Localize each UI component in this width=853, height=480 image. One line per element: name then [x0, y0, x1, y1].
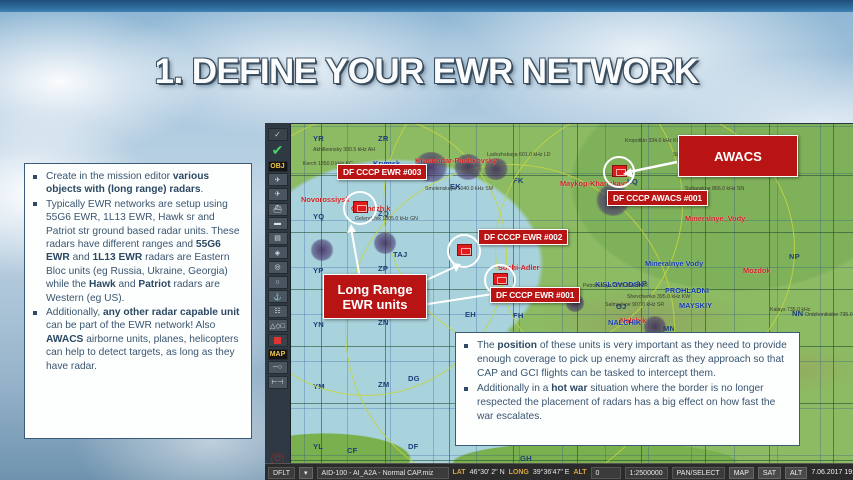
- slide-root: 1. DEFINE YOUR EWR NETWORK Create in the…: [0, 0, 853, 480]
- callout-ewr-003[interactable]: DF CCCP EWR #003: [337, 164, 427, 180]
- callout-line-2: EWR units: [343, 297, 408, 312]
- bullet-text: Additionally in a: [477, 383, 551, 394]
- right-info-panel: The position of these units is very impo…: [455, 332, 800, 446]
- slide-title-bar: 1. DEFINE YOUR EWR NETWORK: [0, 40, 853, 104]
- right-bullet-list: The position of these units is very impo…: [462, 339, 791, 424]
- slide-top-band: [0, 0, 853, 12]
- bullet-text: The: [477, 340, 497, 351]
- lat-value: 46°30' 2" N: [470, 469, 505, 476]
- mission-clock: 7.06.2017 19:40:29: [811, 469, 853, 476]
- map-scale-field[interactable]: 1:2500000: [625, 467, 668, 479]
- long-label: LONG: [509, 469, 529, 476]
- alt-view-button[interactable]: ALT: [785, 467, 807, 479]
- callout-line-1: Long Range: [337, 282, 412, 297]
- sat-view-button[interactable]: SAT: [758, 467, 781, 479]
- long-value: 39°36'47" E: [533, 469, 570, 476]
- bullet-item: Typically EWR networks are setup using 5…: [31, 198, 243, 305]
- alt-label: ALT: [573, 469, 586, 476]
- callout-ewr-002[interactable]: DF CCCP EWR #002: [478, 229, 568, 245]
- bullet-text: Create in the mission editor: [46, 171, 173, 182]
- callout-ewr-001[interactable]: DF CCCP EWR #001: [490, 287, 580, 303]
- bullet-text: .: [201, 184, 204, 195]
- dflt-field[interactable]: DFLT: [268, 467, 295, 479]
- mission-editor-status-bar: DFLT ▾ AID-100 - AI_A2A - Normal CAP.miz…: [265, 463, 853, 480]
- lat-label: LAT: [453, 469, 466, 476]
- bullet-text-bold: AWACS: [46, 334, 83, 345]
- callout-awacs-title[interactable]: AWACS: [678, 135, 798, 177]
- mission-file-field[interactable]: AID-100 - AI_A2A - Normal CAP.miz: [317, 467, 449, 479]
- bullet-text: Additionally,: [46, 307, 103, 318]
- callout-long-range-ewr[interactable]: Long Range EWR units: [323, 274, 427, 319]
- bullet-text: and: [116, 279, 139, 290]
- bullet-item: Additionally, any other radar capable un…: [31, 306, 243, 373]
- bullet-text-bold: position: [497, 340, 537, 351]
- bullet-text-bold: Patriot: [138, 279, 170, 290]
- bullet-text-bold: 1L13 EWR: [92, 252, 142, 263]
- alt-value-field[interactable]: 0: [591, 467, 621, 479]
- chevron-down-icon[interactable]: ▾: [299, 467, 313, 479]
- left-info-panel: Create in the mission editor various obj…: [24, 163, 252, 439]
- bullet-text: and: [70, 252, 93, 263]
- bullet-item: Create in the mission editor various obj…: [31, 170, 243, 197]
- page-title: 1. DEFINE YOUR EWR NETWORK: [155, 52, 699, 92]
- callout-awacs-001[interactable]: DF CCCP AWACS #001: [607, 190, 708, 206]
- bullet-text-bold: Hawk: [89, 279, 116, 290]
- bullet-item: Additionally in a hot war situation wher…: [462, 382, 791, 424]
- left-bullet-list: Create in the mission editor various obj…: [31, 170, 243, 373]
- mode-field[interactable]: PAN/SELECT: [672, 467, 725, 479]
- bullet-item: The position of these units is very impo…: [462, 339, 791, 381]
- map-view-button[interactable]: MAP: [729, 467, 754, 479]
- bullet-text-bold: hot war: [551, 383, 587, 394]
- bullet-text: can be part of the EWR network! Also: [46, 320, 215, 331]
- bullet-text-bold: any other radar capable unit: [103, 307, 239, 318]
